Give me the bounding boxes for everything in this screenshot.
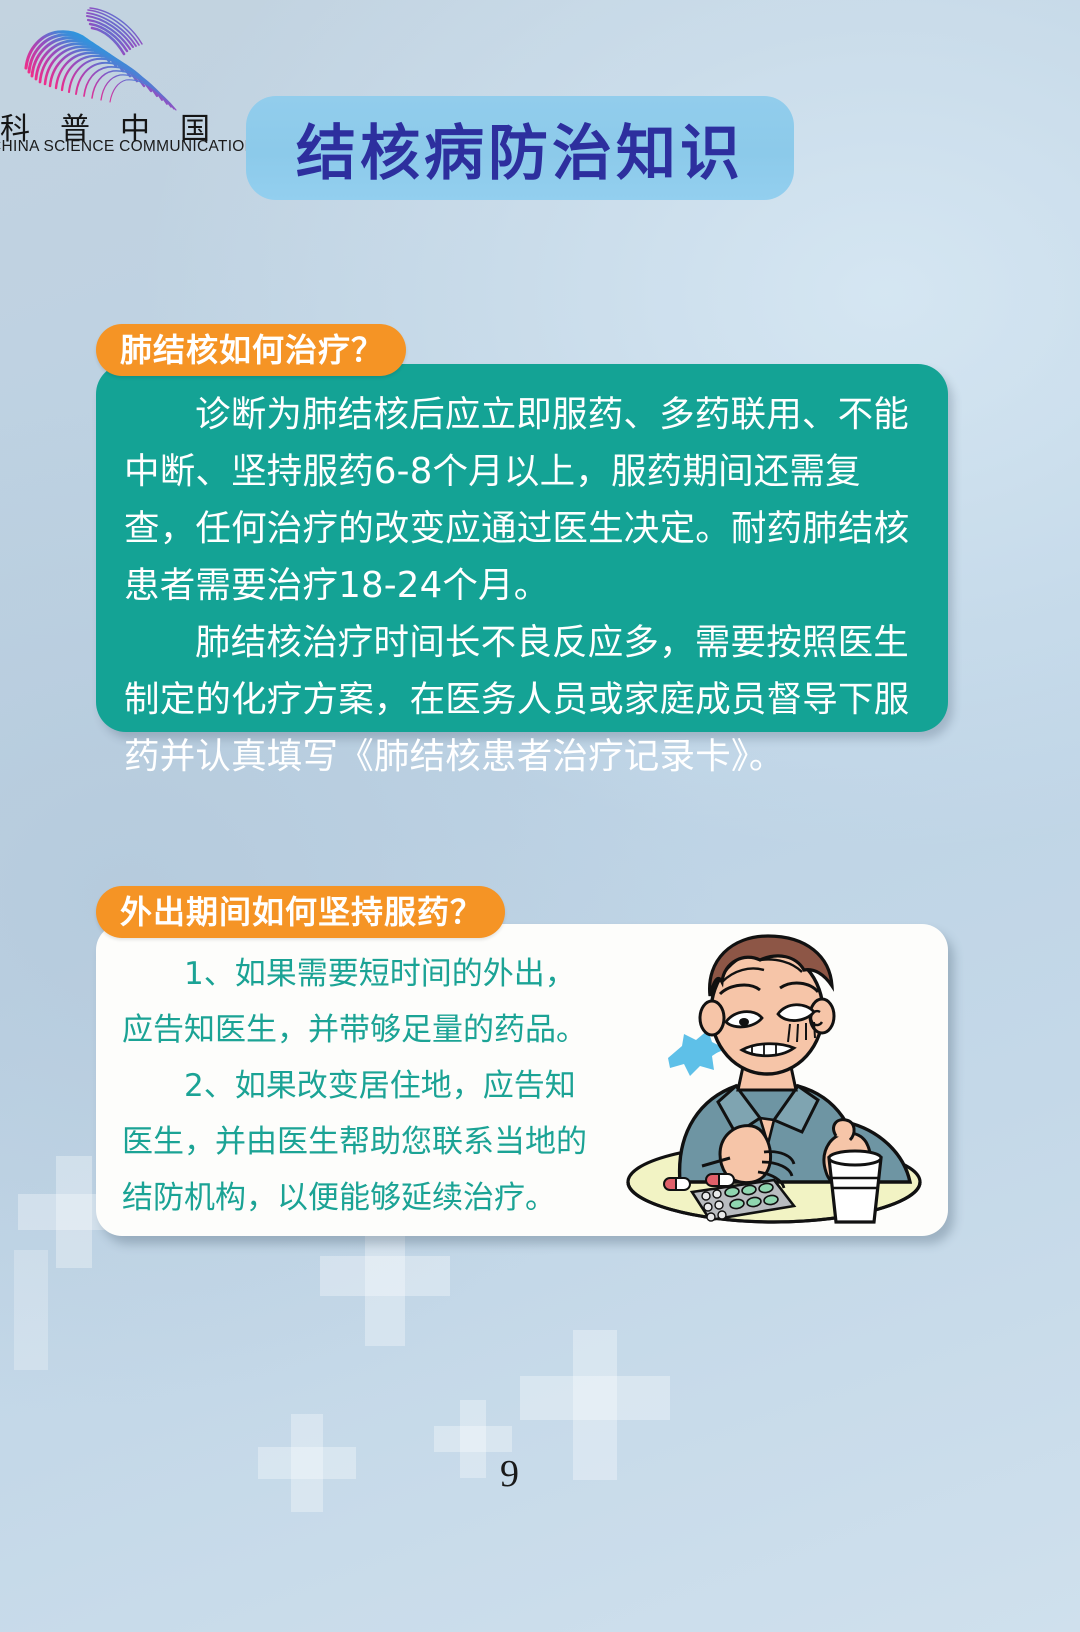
section-badge-travel: 外出期间如何坚持服药？ [96,886,505,938]
patient-head [700,936,834,1074]
section-badge-label: 肺结核如何治疗？ [120,334,384,366]
travel-panel: 1、如果需要短时间的外出，应告知医生，并带够足量的药品。 2、如果改变居住地，应… [96,924,948,1236]
travel-paragraph-1: 1、如果需要短时间的外出，应告知医生，并带够足量的药品。 [122,946,602,1058]
travel-panel-body: 1、如果需要短时间的外出，应告知医生，并带够足量的药品。 2、如果改变居住地，应… [122,946,602,1226]
treatment-paragraph-2: 肺结核治疗时间长不良反应多，需要按照医生制定的化疗方案，在医务人员或家庭成员督导… [124,614,926,785]
background-cross-decoration [258,1414,356,1512]
page-title-pill: 结核病防治知识 [246,96,794,200]
page-number: 9 [500,1452,519,1496]
water-glass-icon [829,1151,881,1222]
logo-chinese-text: 科 普 中 国 [0,104,222,136]
travel-paragraph-2: 2、如果改变居住地，应告知医生，并由医生帮助您联系当地的结防机构，以便能够延续治… [122,1058,602,1226]
treatment-panel-body: 诊断为肺结核后应立即服药、多药联用、不能中断、坚持服药6-8个月以上，服药期间还… [124,386,926,785]
treatment-panel: 诊断为肺结核后应立即服药、多药联用、不能中断、坚持服药6-8个月以上，服药期间还… [96,364,948,732]
logo: 科 普 中 国 CHINA SCIENCE COMMUNICATION [0,4,232,154]
page-title: 结核病防治知识 [296,105,744,192]
patient-taking-medicine-illustration [584,930,944,1230]
background-cross-decoration [520,1330,670,1480]
background-cross-decoration [0,1250,60,1370]
section-badge-label: 外出期间如何坚持服药？ [120,896,483,928]
section-badge-treatment: 肺结核如何治疗？ [96,324,406,376]
treatment-paragraph-1: 诊断为肺结核后应立即服药、多药联用、不能中断、坚持服药6-8个月以上，服药期间还… [124,386,926,614]
logo-english-text: CHINA SCIENCE COMMUNICATION [0,138,222,156]
logo-wing-icon [12,6,184,114]
